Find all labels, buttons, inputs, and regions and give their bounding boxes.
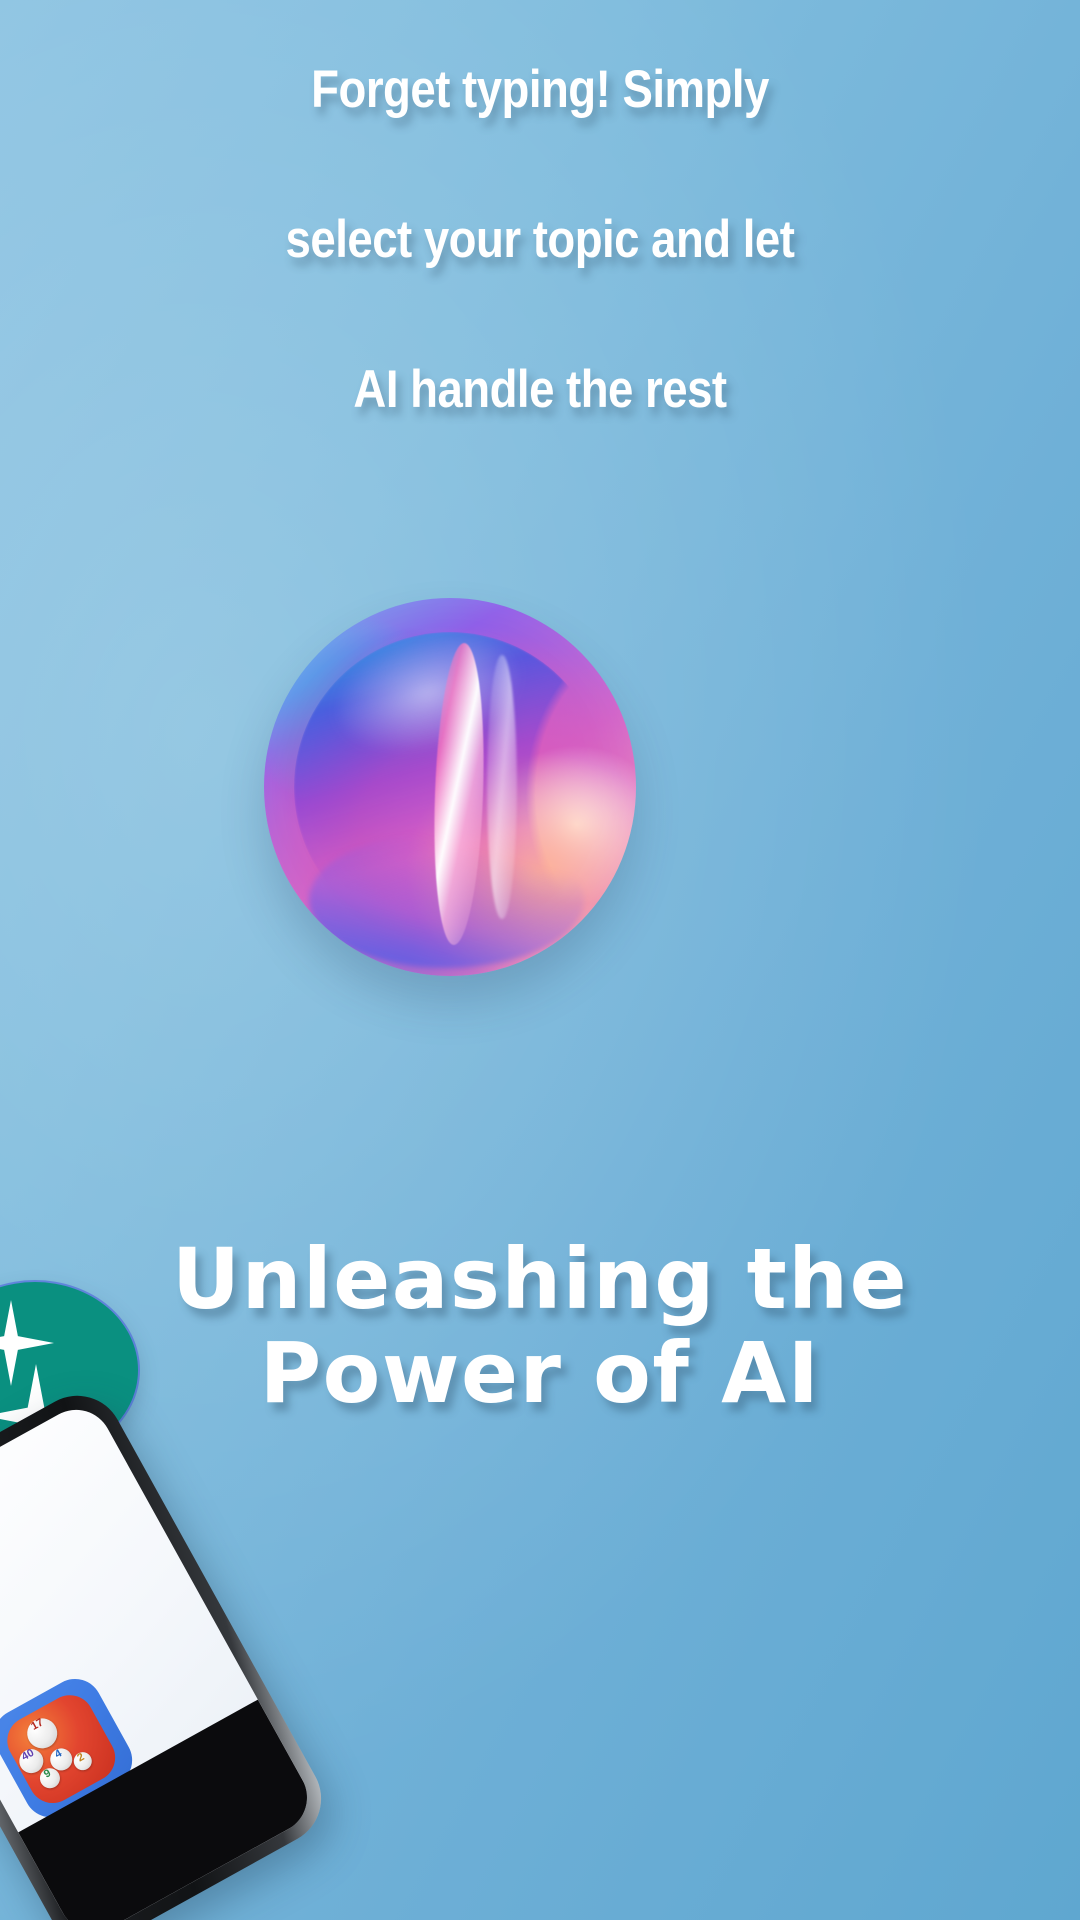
lottery-ball-number: 40 — [15, 1745, 41, 1766]
title-line-1: Unleashing the — [0, 1232, 1080, 1326]
title-block: Unleashing the Power of AI — [0, 1232, 1080, 1420]
orb-rim-highlight — [264, 598, 636, 976]
headline-line-2: select your topic and let — [76, 212, 1005, 268]
lottery-ball-number: 4 — [46, 1744, 71, 1764]
promo-screen: Forget typing! Simply select your topic … — [0, 0, 1080, 1920]
phone-screen: 17 40 4 9 2 — [0, 1397, 320, 1920]
title-line-2: Power of AI — [0, 1326, 1080, 1420]
lottery-ball-number: 2 — [71, 1749, 92, 1767]
sparkle-icon — [0, 1300, 54, 1386]
lottery-ball-number: 17 — [22, 1713, 54, 1737]
headline-line-3: AI handle the rest — [76, 362, 1005, 418]
phone-mockup: 17 40 4 9 2 — [0, 1379, 338, 1920]
headline-block: Forget typing! Simply select your topic … — [0, 62, 1080, 419]
lottery-ball: 2 — [71, 1749, 95, 1773]
ai-orb-graphic — [264, 598, 636, 976]
headline-line-1: Forget typing! Simply — [76, 62, 1005, 118]
phone-body: 17 40 4 9 2 — [0, 1379, 338, 1920]
